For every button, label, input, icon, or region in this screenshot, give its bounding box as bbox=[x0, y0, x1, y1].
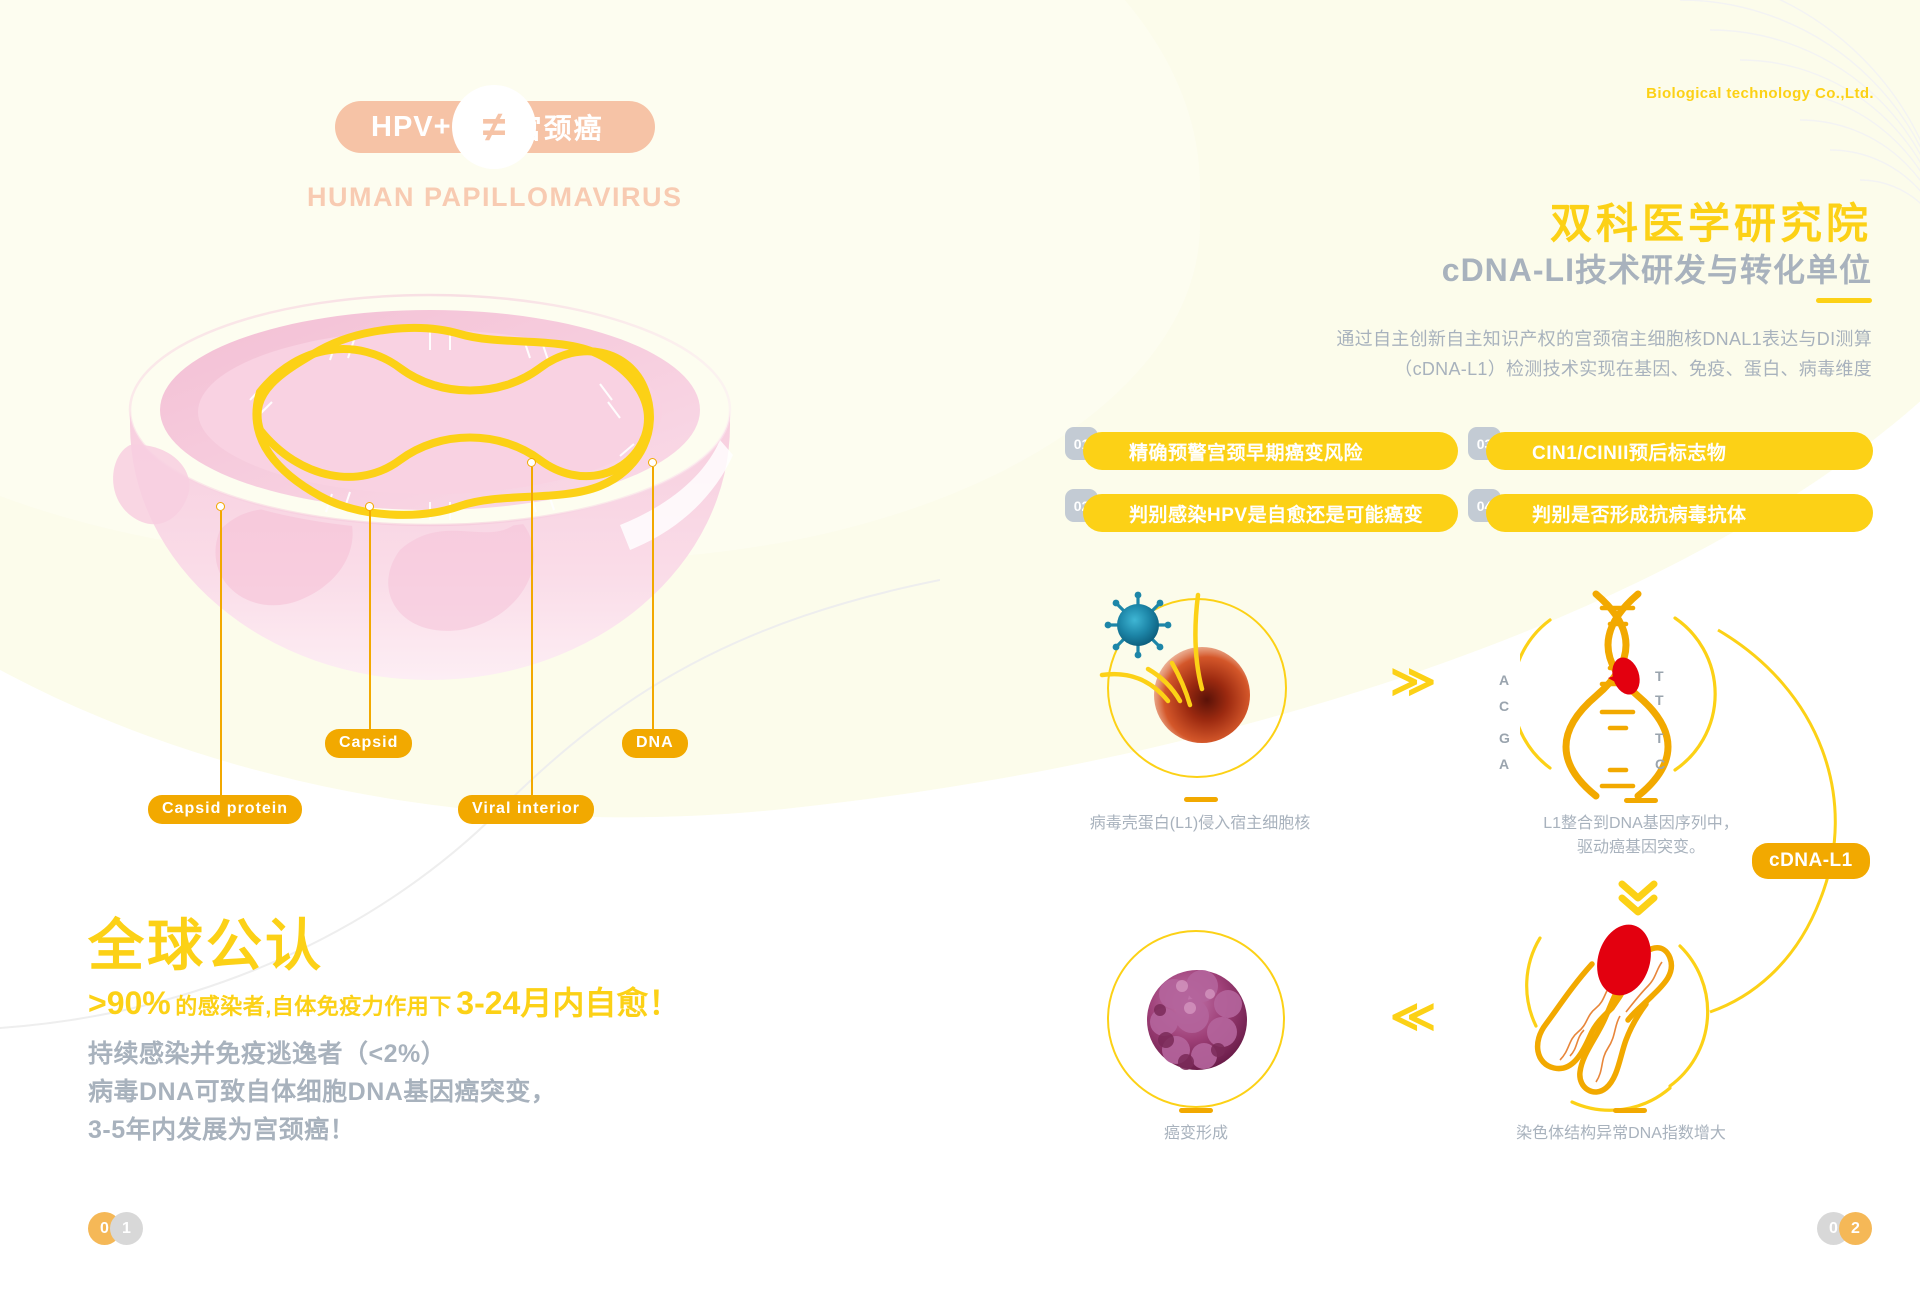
callout-capsid: Capsid bbox=[325, 729, 412, 758]
process-caption-step1: 病毒壳蛋白(L1)侵入宿主细胞核 bbox=[1010, 812, 1390, 836]
process-rule-step1 bbox=[1184, 797, 1218, 802]
description-line-1: 通过自主创新自主知识产权的宫颈宿主细胞核DNAL1表达与DI测算 bbox=[1292, 325, 1872, 355]
process-caption-step4: 染色体结构异常DNA指数增大 bbox=[1461, 1122, 1781, 1146]
leader-line-capsid bbox=[369, 511, 371, 735]
callout-dna: DNA bbox=[622, 729, 688, 758]
process-rule-step4 bbox=[1613, 1108, 1647, 1113]
callout-capsid-protein: Capsid protein bbox=[148, 795, 302, 824]
not-equal-icon: ≠ bbox=[452, 85, 536, 169]
leader-dot-capsid-protein bbox=[216, 502, 225, 511]
virus-invading-nucleus-icon bbox=[1090, 585, 1305, 795]
hpv-badge-label: HPV+ bbox=[371, 111, 452, 144]
leader-line-viral-interior bbox=[531, 467, 533, 801]
stat-middle-text: 的感染者,自体免疫力作用下 bbox=[175, 994, 452, 1019]
leader-line-dna bbox=[652, 467, 654, 735]
callout-viral-interior: Viral interior bbox=[458, 795, 594, 824]
chevron-left-icon: ≪ bbox=[1390, 995, 1436, 1039]
feature-label-04: 判别是否形成抗病毒抗体 bbox=[1532, 500, 1747, 527]
body-line-3: 3-5年内发展为宫颈癌！ bbox=[88, 1111, 556, 1149]
page-number-right-second: 2 bbox=[1839, 1212, 1872, 1245]
process-rule-step3 bbox=[1179, 1108, 1213, 1113]
title-underline-rule bbox=[1816, 298, 1872, 303]
chevron-down-icon bbox=[1616, 878, 1660, 920]
process-caption-step3: 癌变形成 bbox=[1096, 1122, 1296, 1146]
feature-bar-04: 判别是否形成抗病毒抗体 bbox=[1486, 494, 1873, 532]
right-page: Biological technology Co.,Ltd. 双科医学研究院 c… bbox=[1020, 0, 1920, 1303]
leader-dot-viral-interior bbox=[527, 458, 536, 467]
global-recognition-stat: >90% 的感染者,自体免疫力作用下 3-24月内自愈！ bbox=[88, 978, 680, 1024]
body-line-1: 持续感染并免疫逃逸者（<2%） bbox=[88, 1035, 556, 1073]
dna-base-left-3: G bbox=[1499, 730, 1510, 746]
institute-title: 双科医学研究院 bbox=[1550, 190, 1872, 251]
left-page: HPV+ 宫颈癌 ≠ HUMAN PAPILLOMAVIRUS bbox=[0, 0, 1020, 1303]
feature-bar-01: 精确预警宫颈早期癌变风险 bbox=[1083, 432, 1458, 470]
leader-dot-dna bbox=[648, 458, 657, 467]
description-line-2: （cDNA-L1）检测技术实现在基因、免疫、蛋白、病毒维度 bbox=[1292, 355, 1872, 385]
global-recognition-title: 全球公认 bbox=[88, 901, 324, 982]
body-line-2: 病毒DNA可致自体细胞DNA基因癌突变， bbox=[88, 1073, 556, 1111]
feature-bar-02: 判别感染HPV是自愈还是可能癌变 bbox=[1083, 494, 1458, 532]
page-number-right: 0 2 bbox=[1817, 1212, 1872, 1245]
feature-label-02: 判别感染HPV是自愈还是可能癌变 bbox=[1129, 500, 1423, 527]
page-number-left: 0 1 bbox=[88, 1212, 143, 1245]
global-recognition-body: 持续感染并免疫逃逸者（<2%） 病毒DNA可致自体细胞DNA基因癌突变， 3-5… bbox=[88, 1035, 556, 1149]
feature-bar-03: CIN1/CINII预后标志物 bbox=[1486, 432, 1873, 470]
feature-label-01: 精确预警宫颈早期癌变风险 bbox=[1129, 438, 1363, 465]
dna-base-right-2: T bbox=[1655, 692, 1664, 708]
chromosome-abnormality-icon bbox=[1520, 916, 1750, 1126]
page-number-left-second: 1 bbox=[110, 1212, 143, 1245]
institute-description: 通过自主创新自主知识产权的宫颈宿主细胞核DNAL1表达与DI测算 （cDNA-L… bbox=[1292, 325, 1872, 384]
dna-base-left-2: C bbox=[1499, 698, 1509, 714]
dna-base-left-4: A bbox=[1499, 756, 1509, 772]
institute-subtitle: cDNA-LI技术研发与转化单位 bbox=[1442, 245, 1872, 291]
cdna-l1-pill: cDNA-L1 bbox=[1752, 843, 1870, 879]
chevron-right-icon: ≫ bbox=[1390, 660, 1436, 704]
dna-base-right-3: T bbox=[1655, 730, 1664, 746]
leader-line-capsid-protein bbox=[220, 511, 222, 801]
poster-canvas: HPV+ 宫颈癌 ≠ HUMAN PAPILLOMAVIRUS bbox=[0, 0, 1920, 1303]
hpv-subtitle: HUMAN PAPILLOMAVIRUS bbox=[307, 182, 683, 213]
feature-label-03: CIN1/CINII预后标志物 bbox=[1532, 438, 1726, 465]
tumor-cluster-icon bbox=[1130, 952, 1265, 1087]
company-name: Biological technology Co.,Ltd. bbox=[1646, 85, 1874, 102]
dna-base-right-4: C bbox=[1655, 756, 1665, 772]
leader-dot-capsid bbox=[365, 502, 374, 511]
dna-base-left-1: A bbox=[1499, 672, 1509, 688]
process-rule-step2 bbox=[1624, 798, 1658, 803]
dna-base-right-1: T bbox=[1655, 668, 1664, 684]
stat-percentage: >90% bbox=[88, 985, 171, 1021]
stat-tail-text: 3-24月内自愈！ bbox=[456, 985, 680, 1021]
